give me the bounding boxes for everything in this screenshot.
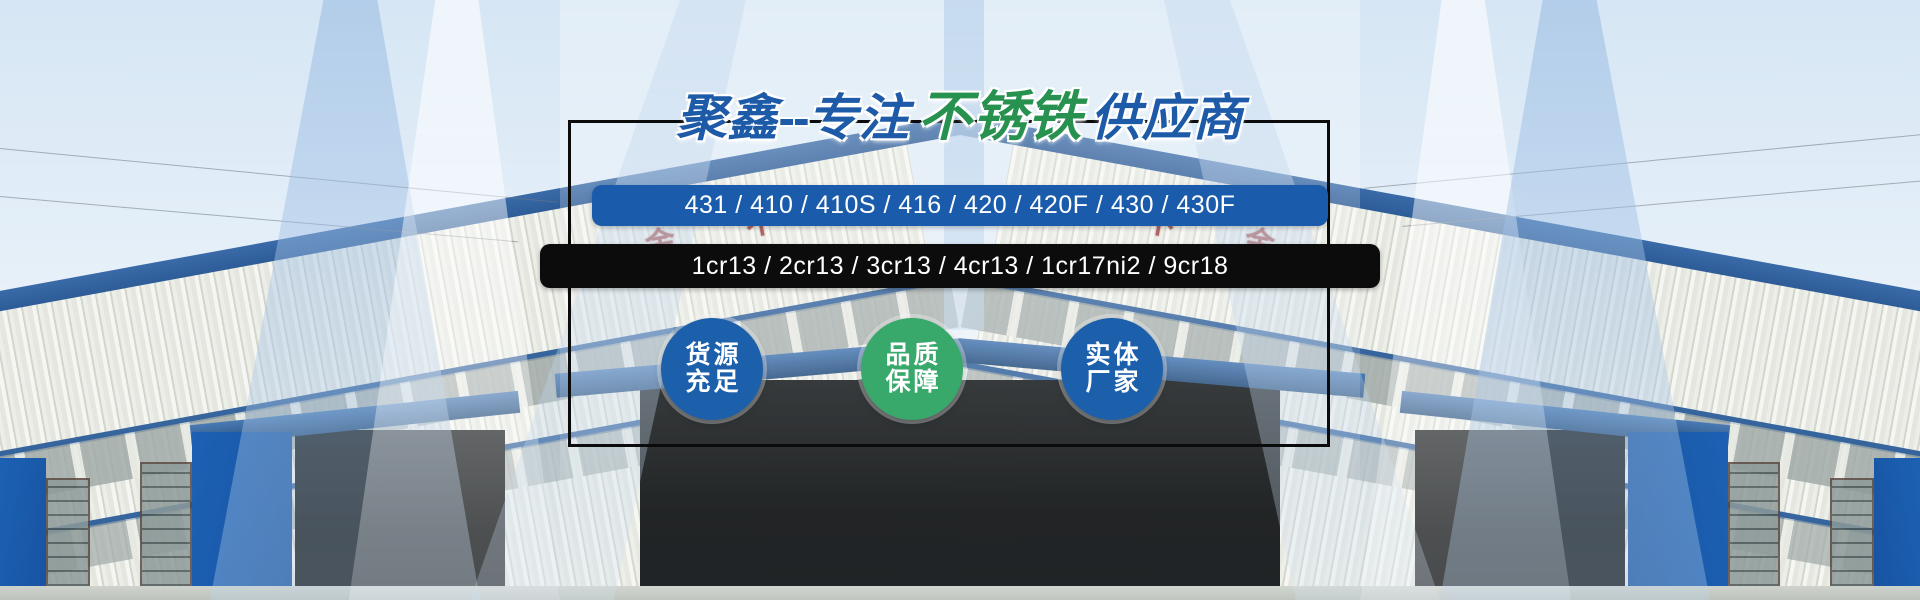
feature-circle-supply: 货源 充足 — [661, 318, 763, 420]
alloy-grades-label: 1cr13 / 2cr13 / 3cr13 / 4cr13 / 1cr17ni2… — [692, 252, 1229, 281]
facade-window-right-1 — [1728, 462, 1780, 600]
blue-door-panel-right-2 — [1874, 458, 1920, 600]
blue-door-panel-left-1 — [192, 432, 292, 600]
feature-factory-line2: 厂家 — [1082, 369, 1141, 396]
feature-factory-line1: 实体 — [1082, 342, 1141, 369]
warehouse-bay-opening-right-1 — [1415, 430, 1625, 600]
steel-grades-pill: 431 / 410 / 410S / 416 / 420 / 420F / 43… — [592, 185, 1328, 226]
facade-window-left-2 — [46, 478, 90, 600]
headline-dash: -- — [778, 89, 807, 147]
feature-circle-quality: 品质 保障 — [861, 318, 963, 420]
blue-door-panel-left-2 — [0, 458, 46, 600]
feature-circle-factory: 实体 厂家 — [1061, 318, 1163, 420]
blue-door-panel-right-1 — [1628, 432, 1728, 600]
facade-window-right-2 — [1830, 478, 1874, 600]
warehouse-bay-opening-left-1 — [295, 430, 505, 600]
feature-circles: 货源 充足 品质 保障 实体 厂家 — [0, 305, 1920, 440]
alloy-grades-pill: 1cr13 / 2cr13 / 3cr13 / 4cr13 / 1cr17ni2… — [540, 244, 1380, 288]
facade-window-left-1 — [140, 462, 192, 600]
ground-strip — [0, 586, 1920, 600]
promo-banner: 锈 不 金 聚 锈 不 金 聚 — [0, 0, 1920, 600]
headline-highlight: 不锈铁 — [910, 72, 1091, 151]
banner-headline: 聚鑫--专注不锈铁供应商 — [0, 72, 1920, 151]
headline-focus: 专注 — [808, 78, 910, 150]
feature-quality-line1: 品质 — [882, 342, 941, 369]
feature-supply-line1: 货源 — [682, 342, 741, 369]
headline-brand: 聚鑫 — [676, 78, 778, 150]
steel-grades-label: 431 / 410 / 410S / 416 / 420 / 420F / 43… — [685, 191, 1236, 220]
headline-supplier: 供应商 — [1091, 78, 1244, 150]
feature-quality-line2: 保障 — [882, 369, 941, 396]
feature-supply-line2: 充足 — [682, 369, 741, 396]
